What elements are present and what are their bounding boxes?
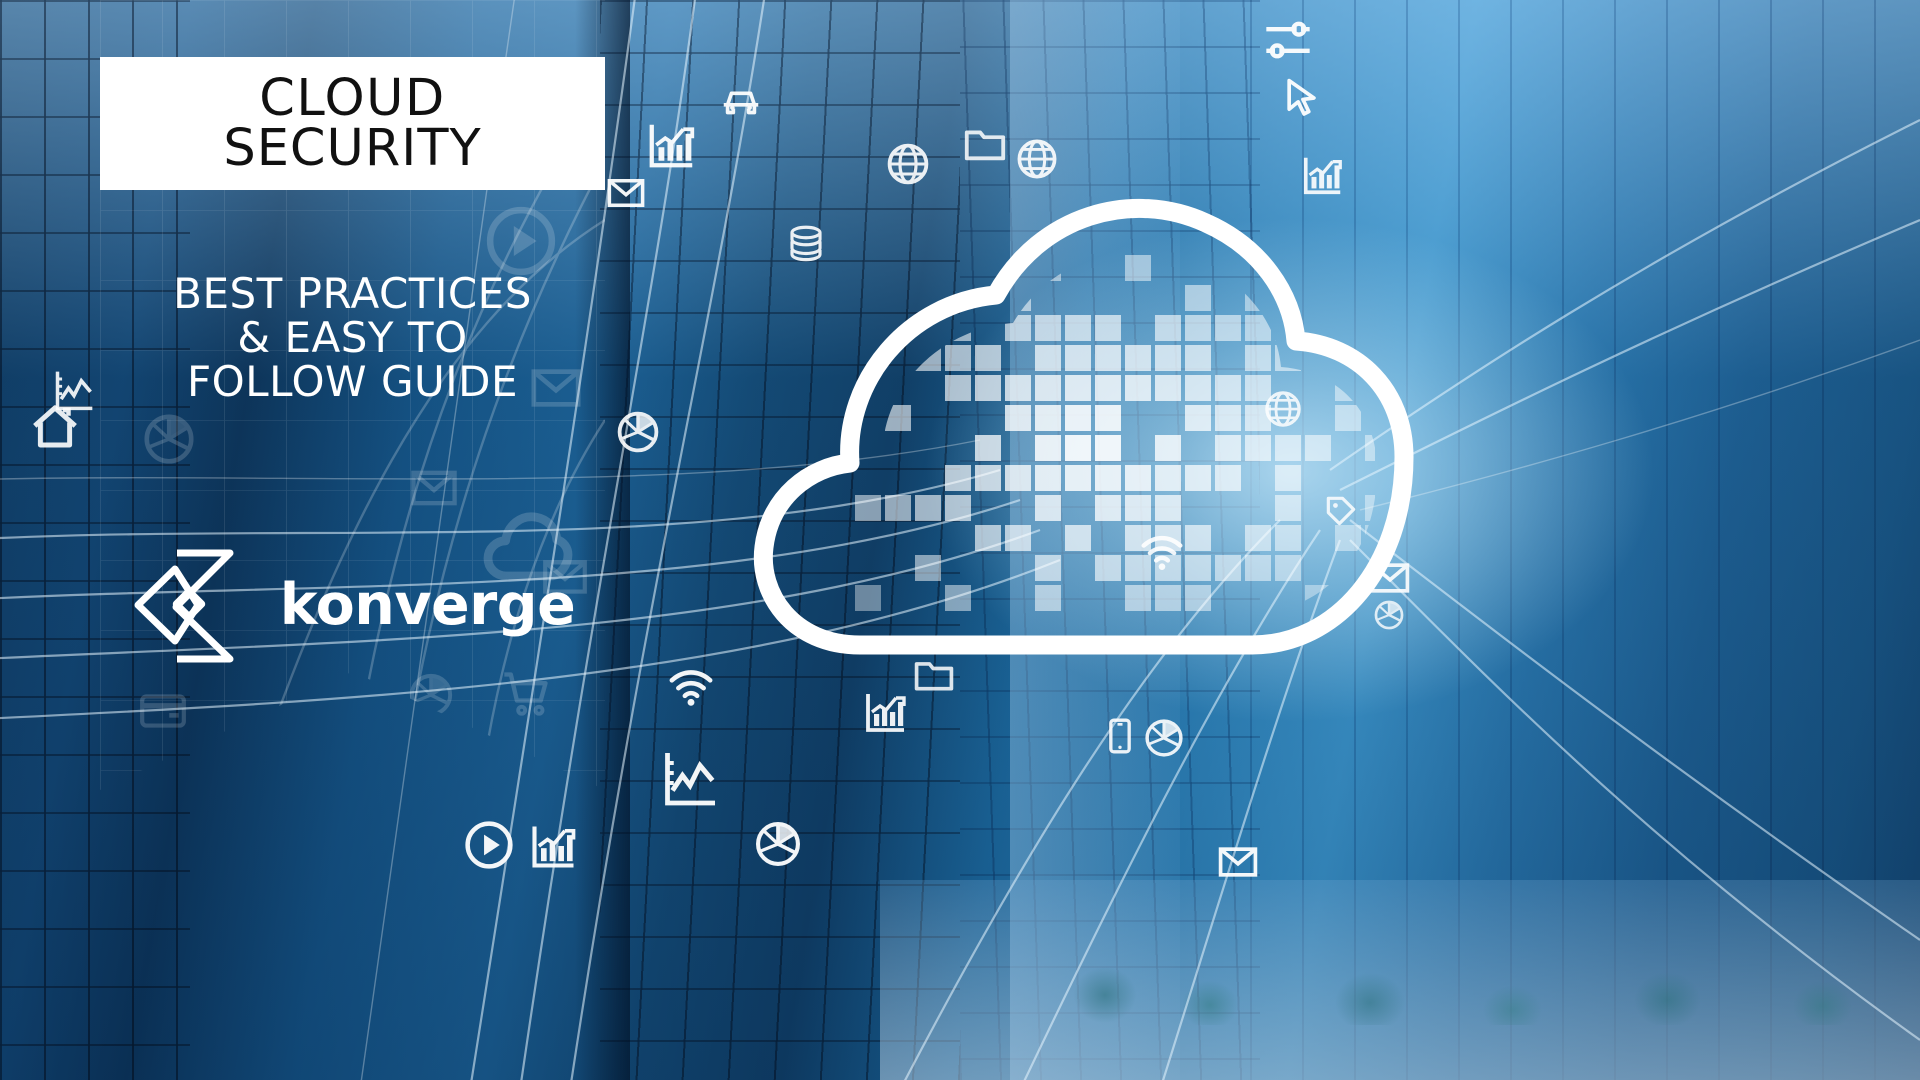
konverge-k-mark-icon (130, 545, 258, 665)
shopping-cart-icon (500, 668, 552, 720)
subtitle-line-2: & EASY TO (100, 316, 605, 360)
credit-card-icon (138, 686, 188, 736)
cloud-security-banner: CLOUD SECURITY BEST PRACTICES & EASY TO … (100, 0, 605, 790)
envelope-icon (408, 462, 460, 514)
title-line-1: CLOUD (223, 74, 481, 124)
cloud-outline-graphic (740, 175, 1440, 695)
poster-canvas: CLOUD SECURITY BEST PRACTICES & EASY TO … (0, 0, 1920, 1080)
konverge-wordmark: konverge (280, 572, 576, 638)
title-band: CLOUD SECURITY (100, 57, 605, 190)
konverge-logo: konverge (100, 545, 605, 665)
title-line-2: SECURITY (223, 124, 481, 174)
subtitle-line-3: FOLLOW GUIDE (100, 360, 605, 404)
subtitle-line-1: BEST PRACTICES (100, 272, 605, 316)
pie-chart-icon (140, 410, 198, 468)
subtitle: BEST PRACTICES & EASY TO FOLLOW GUIDE (100, 272, 605, 404)
page-title: CLOUD SECURITY (223, 74, 481, 174)
